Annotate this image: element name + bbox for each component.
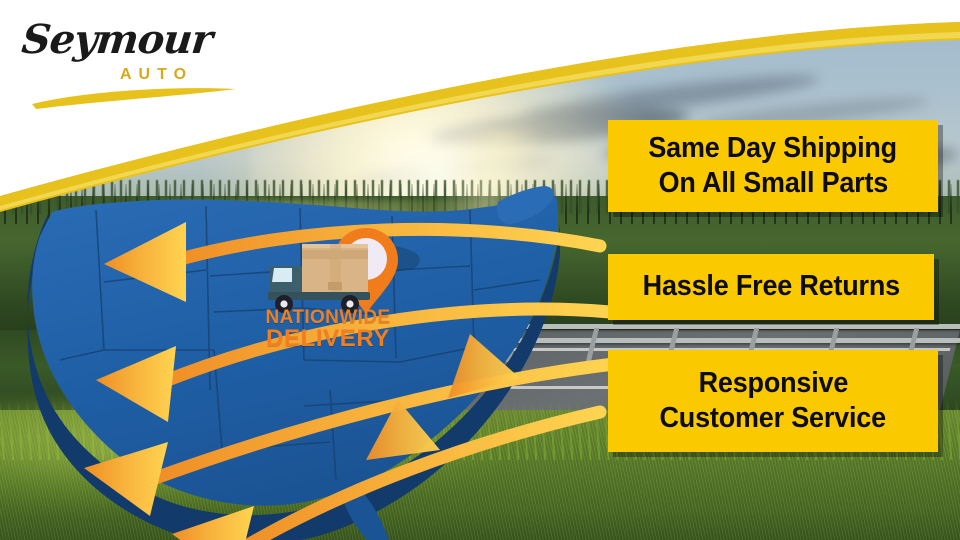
callout-line: Same Day Shipping <box>649 131 898 166</box>
callout-line: Responsive <box>698 366 848 401</box>
delivery-truck-icon <box>268 244 370 313</box>
callout-hassle-free-returns[interactable]: Hassle Free Returns <box>608 254 934 320</box>
callout-same-day-shipping[interactable]: Same Day Shipping On All Small Parts <box>608 120 938 212</box>
logo-swoosh-icon <box>30 84 240 110</box>
nationwide-delivery-label: NATIONWIDE DELIVERY <box>258 308 398 352</box>
callout-line: Customer Service <box>660 401 886 436</box>
callout-responsive-customer-service[interactable]: Responsive Customer Service <box>608 350 938 452</box>
promo-banner: Seymour AUTO <box>0 0 960 540</box>
logo-subtext: AUTO <box>120 66 193 84</box>
callout-line: On All Small Parts <box>658 166 887 201</box>
brand-logo[interactable]: Seymour AUTO <box>14 12 254 102</box>
logo-wordmark: Seymour <box>20 16 215 63</box>
nationwide-line2: DELIVERY <box>258 327 398 351</box>
callout-line: Hassle Free Returns <box>642 269 899 304</box>
